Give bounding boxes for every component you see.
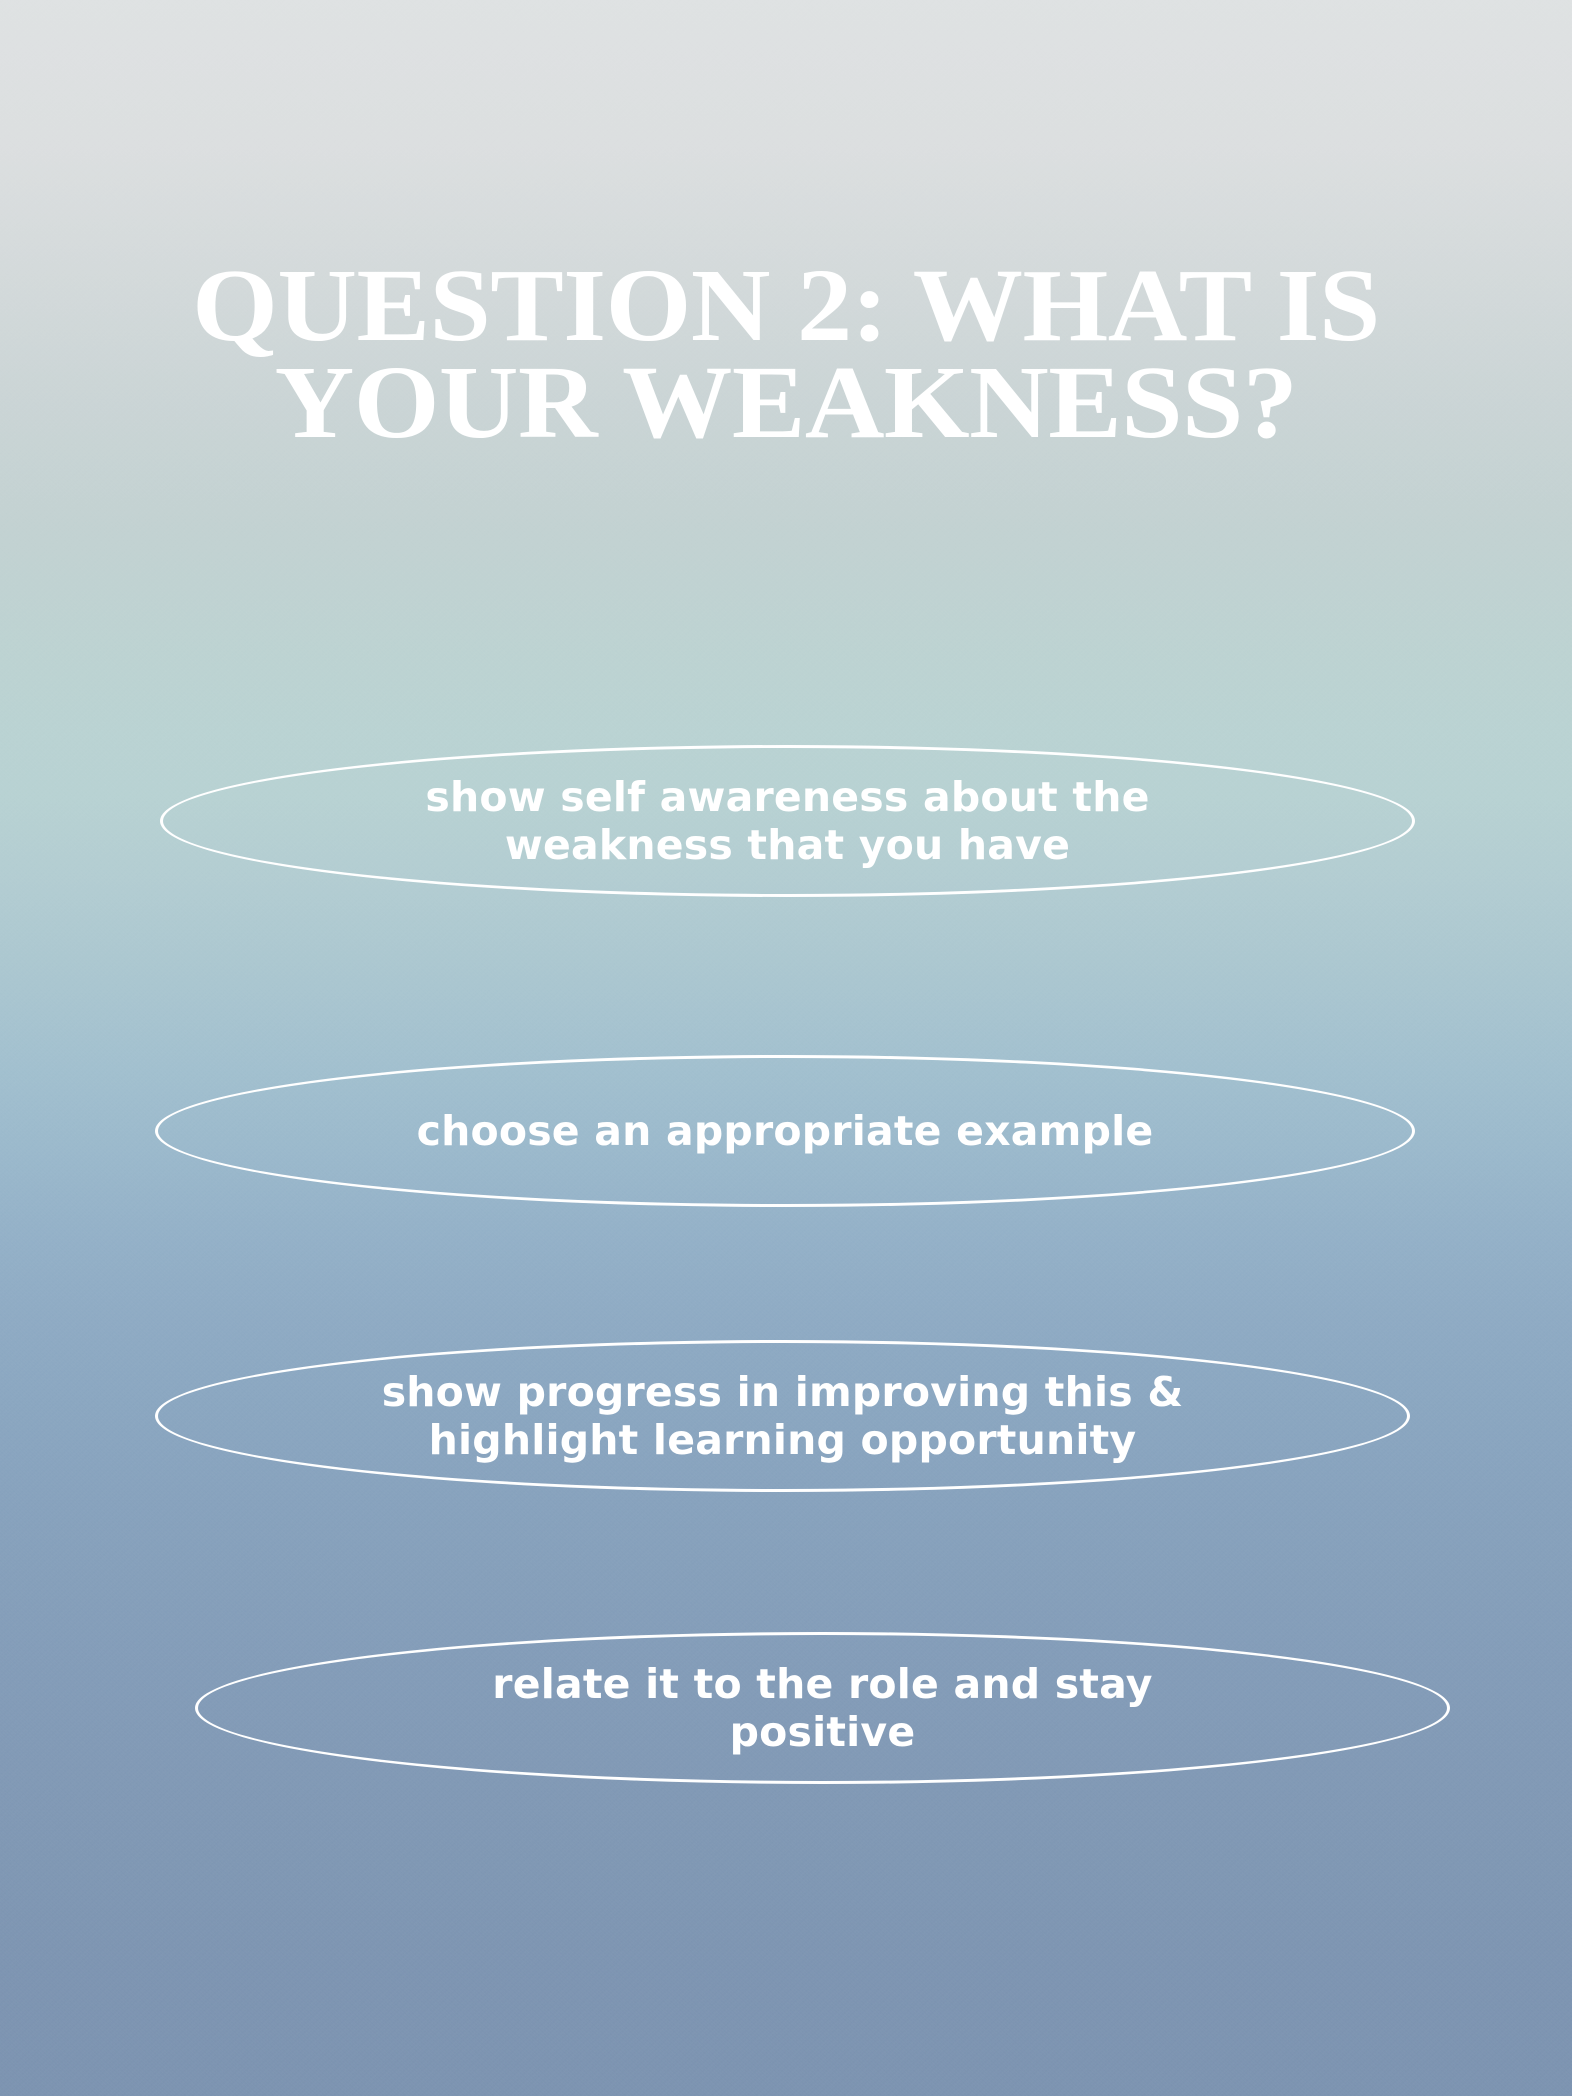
tip-text-1-line-2: weakness that you have — [505, 821, 1070, 869]
tip-text-3-line-1: show progress in improving this & — [382, 1368, 1184, 1416]
poster-canvas: QUESTION 2: WHAT IS YOUR WEAKNESS? show … — [0, 0, 1572, 2096]
tip-text-4-line-1: relate it to the role and stay — [492, 1660, 1152, 1708]
tip-text-3: show progress in improving this & highli… — [155, 1368, 1410, 1465]
page-title: QUESTION 2: WHAT IS YOUR WEAKNESS? — [0, 258, 1572, 451]
page-title-line-2: YOUR WEAKNESS? — [0, 355, 1572, 452]
tip-ellipse-1: show self awareness about the weakness t… — [160, 745, 1415, 897]
tip-text-4: relate it to the role and stay positive — [195, 1660, 1450, 1757]
tip-text-1: show self awareness about the weakness t… — [160, 773, 1415, 870]
tip-text-2-line-1: choose an appropriate example — [417, 1107, 1154, 1155]
page-title-line-1: QUESTION 2: WHAT IS — [0, 258, 1572, 355]
tip-ellipse-2: choose an appropriate example — [155, 1055, 1415, 1207]
tip-text-2: choose an appropriate example — [155, 1107, 1415, 1155]
tip-text-3-line-2: highlight learning opportunity — [429, 1416, 1137, 1464]
tip-ellipse-3: show progress in improving this & highli… — [155, 1340, 1410, 1492]
tip-text-4-line-2: positive — [730, 1708, 916, 1756]
tip-ellipse-4: relate it to the role and stay positive — [195, 1632, 1450, 1784]
tip-text-1-line-1: show self awareness about the — [425, 773, 1149, 821]
